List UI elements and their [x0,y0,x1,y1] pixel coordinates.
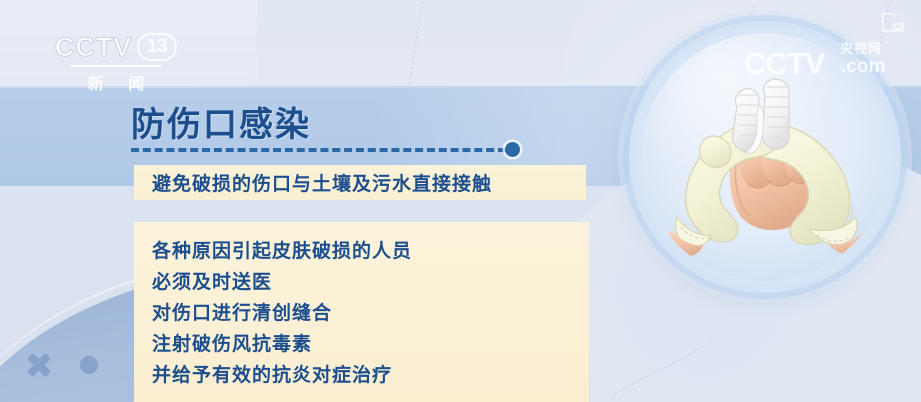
title-dashed-rule [131,148,506,152]
broadcast-graphic: CCTV 13 新 闻 防伤口感染 避免破损的伤口与土壤及污水直接接触 各种原因… [0,0,921,402]
body-panel: 各种原因引起皮肤破损的人员 必须及时送医 对伤口进行清创缝合 注射破伤风抗毒素 … [134,222,589,402]
cross-icon [26,352,52,378]
subtitle-panel: 避免破损的伤口与土壤及污水直接接触 [134,165,586,200]
medallion-inner [641,33,889,281]
body-line: 并给予有效的抗炎对症治疗 [152,360,589,391]
body-line: 各种原因引起皮肤破损的人员 [152,236,589,267]
logo-subtitle: 新 闻 [48,70,184,94]
logo-underline [70,65,162,67]
body-line: 对伤口进行清创缝合 [152,298,589,329]
logo-channel-number: 13 [137,33,177,61]
gloved-hands-bandage-illustration [641,33,889,281]
cctv13-logo: CCTV 13 新 闻 [48,30,184,88]
dot-icon [80,356,98,374]
body-line: 注射破伤风抗毒素 [152,329,589,360]
subtitle-text: 避免破损的伤口与土壤及污水直接接触 [152,169,492,196]
title-end-dot [505,142,520,157]
logo-cctv-text: CCTV [55,32,133,63]
page-title: 防伤口感染 [131,97,311,146]
window-restore-icon[interactable] [882,13,904,32]
illustration-medallion [629,21,901,293]
body-line: 必须及时送医 [152,267,589,298]
